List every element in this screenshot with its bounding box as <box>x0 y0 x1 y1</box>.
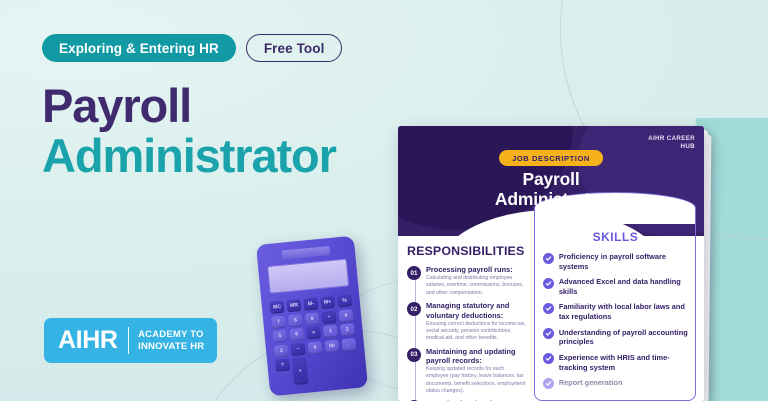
calculator-key: 2 <box>340 323 355 336</box>
page-title-line2: Administrator <box>42 132 412 180</box>
calculator-keypad: MCMRM-M+%789÷456×123−000.=+ <box>269 294 359 386</box>
responsibility-description: Keeping updated records for each employe… <box>426 366 526 395</box>
responsibilities-section: RESPONSIBILITIES 01Processing payroll ru… <box>398 236 532 401</box>
responsibility-description: Ensuring correct deductions for income t… <box>426 321 526 343</box>
skill-item: Experience with HRIS and time-tracking s… <box>543 353 688 373</box>
logo-divider <box>128 327 130 354</box>
responsibility-item: 03Maintaining and updating payroll recor… <box>407 347 526 395</box>
calculator-key: MR <box>286 299 301 312</box>
calculator-key: − <box>290 343 305 356</box>
responsibility-text: Managing statutory and voluntary deducti… <box>426 301 526 342</box>
calculator-key: M+ <box>320 296 335 309</box>
responsibility-text: Maintaining and updating payroll records… <box>426 347 526 395</box>
check-icon <box>543 253 554 264</box>
check-icon <box>543 328 554 339</box>
calculator-key: % <box>337 294 352 307</box>
check-icon <box>543 353 554 364</box>
calculator-key: 00 <box>324 339 339 352</box>
calculator-key: 9 <box>305 312 320 325</box>
calculator-key: 0 <box>307 341 322 354</box>
skill-item: Familiarity with local labor laws and ta… <box>543 302 688 322</box>
career-hub-line2: HUB <box>681 143 695 150</box>
check-icon <box>543 278 554 289</box>
calculator-display <box>267 258 349 294</box>
calculator-key: × <box>306 326 321 339</box>
skills-list: Proficiency in payroll software systemsA… <box>543 252 688 389</box>
job-description-card[interactable]: AIHR CAREER HUB JOB DESCRIPTION Payroll … <box>398 126 704 401</box>
skill-item: Advanced Excel and data handling skills <box>543 277 688 297</box>
logo-wordmark: AIHR <box>58 328 118 353</box>
calculator-key: 7 <box>271 315 286 328</box>
responsibility-title: Maintaining and updating payroll records… <box>426 347 526 366</box>
career-hub-label: AIHR CAREER HUB <box>648 135 695 152</box>
page-title: Payroll Administrator <box>42 82 412 180</box>
calculator-key: MC <box>269 301 284 314</box>
calculator-key: 4 <box>338 309 353 322</box>
page-title-line1: Payroll <box>42 82 412 130</box>
responsibility-title: Managing statutory and voluntary deducti… <box>426 301 526 320</box>
skills-section: SKILLS Proficiency in payroll software s… <box>534 222 696 401</box>
skill-label: Report generation <box>559 378 623 388</box>
logo-tagline-line1: ACADEMY TO <box>138 329 204 340</box>
card-title: Payroll Administrator <box>398 170 704 209</box>
calculator-key: 5 <box>272 330 287 343</box>
job-description-badge: JOB DESCRIPTION <box>499 150 603 166</box>
career-hub-line1: AIHR CAREER <box>648 135 695 142</box>
calculator-key: 6 <box>289 328 304 341</box>
card-title-line2: Administrator <box>495 189 607 209</box>
card-body: RESPONSIBILITIES 01Processing payroll ru… <box>398 236 704 401</box>
logo-tagline-line2: INNOVATE HR <box>138 341 204 352</box>
responsibility-title: Processing payroll runs: <box>426 265 526 274</box>
calculator-key: 3 <box>274 344 289 357</box>
calculator-key: = <box>275 359 290 372</box>
skill-label: Familiarity with local labor laws and ta… <box>559 302 688 322</box>
calculator-illustration: MCMRM-M+%789÷456×123−000.=+ <box>256 236 368 397</box>
calculator-solar-panel <box>282 246 331 260</box>
calculator-key: 8 <box>288 314 303 327</box>
responsibility-item: 01Processing payroll runs:Calculating an… <box>407 265 526 297</box>
responsibility-number-badge: 02 <box>407 302 421 316</box>
responsibilities-list: 01Processing payroll runs:Calculating an… <box>407 265 526 401</box>
check-icon <box>543 378 554 389</box>
responsibilities-heading: RESPONSIBILITIES <box>407 244 526 258</box>
calculator-key: + <box>292 357 309 385</box>
hero-tag-row: Exploring & Entering HR Free Tool <box>42 34 412 62</box>
responsibility-number-badge: 01 <box>407 266 421 280</box>
tag-free-tool-pill[interactable]: Free Tool <box>246 34 343 62</box>
card-title-line1: Payroll <box>523 169 580 189</box>
hero-section: Exploring & Entering HR Free Tool Payrol… <box>42 34 412 180</box>
skills-heading: SKILLS <box>543 230 688 244</box>
responsibility-number-badge: 03 <box>407 348 421 362</box>
aihr-logo[interactable]: AIHR ACADEMY TO INNOVATE HR <box>44 318 217 363</box>
skill-label: Advanced Excel and data handling skills <box>559 277 688 297</box>
skill-label: Proficiency in payroll software systems <box>559 252 688 272</box>
calculator-body: MCMRM-M+%789÷456×123−000.=+ <box>256 236 368 397</box>
calculator-key: 1 <box>323 325 338 338</box>
responsibility-item: 02Managing statutory and voluntary deduc… <box>407 301 526 342</box>
logo-tagline: ACADEMY TO INNOVATE HR <box>138 329 204 353</box>
responsibility-description: Calculating and distributing employee sa… <box>426 275 526 297</box>
calculator-key: M- <box>303 297 318 310</box>
skill-item: Report generation <box>543 378 688 390</box>
calculator-key: . <box>341 338 356 351</box>
calculator-key: ÷ <box>321 310 336 323</box>
responsibility-text: Processing payroll runs:Calculating and … <box>426 265 526 297</box>
skill-label: Experience with HRIS and time-tracking s… <box>559 353 688 373</box>
skill-item: Proficiency in payroll software systems <box>543 252 688 272</box>
skill-item: Understanding of payroll accounting prin… <box>543 328 688 348</box>
tag-category-pill[interactable]: Exploring & Entering HR <box>42 34 236 62</box>
check-icon <box>543 303 554 314</box>
skill-label: Understanding of payroll accounting prin… <box>559 328 688 348</box>
